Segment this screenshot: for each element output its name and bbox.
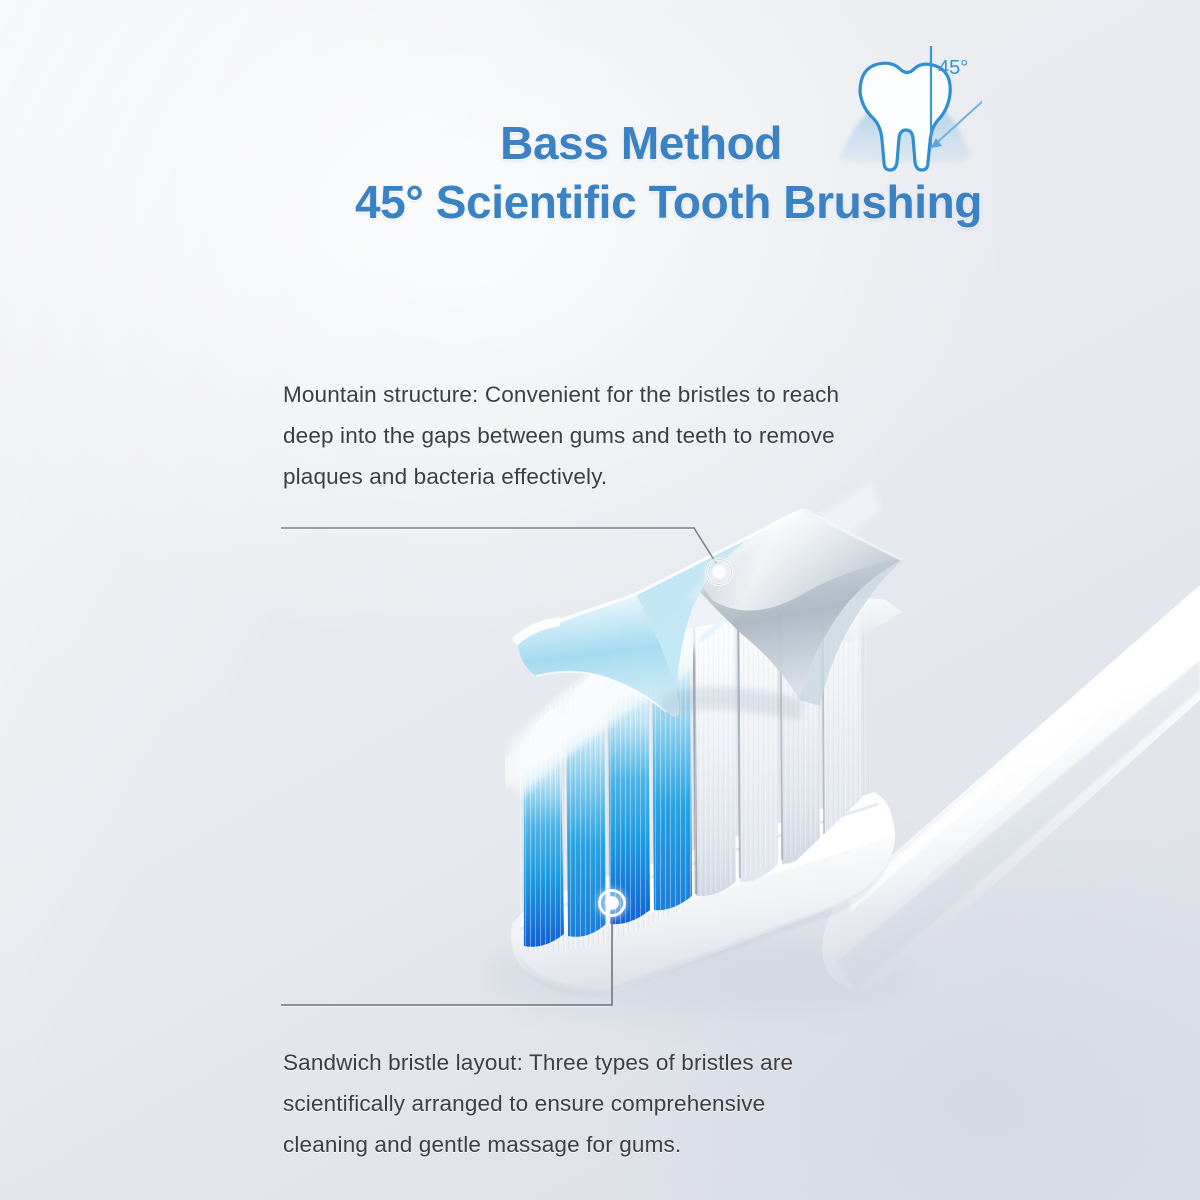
feature-text-bottom: Sandwich bristle layout: Three types of …: [283, 1042, 983, 1165]
toothbrush-handle: [822, 585, 1200, 991]
feature-bottom-line-2: scientifically arranged to ensure compre…: [283, 1083, 983, 1124]
feature-bottom-line-3: cleaning and gentle massage for gums.: [283, 1124, 983, 1165]
feature-top-line-1: Mountain structure: Convenient for the b…: [283, 374, 983, 415]
feature-bottom-line-1: Sandwich bristle layout: Three types of …: [283, 1042, 983, 1083]
infographic-page: 45° Bass Method 45° Scientific Tooth Bru…: [0, 0, 1200, 1200]
feature-text-top: Mountain structure: Convenient for the b…: [283, 374, 983, 497]
feature-top-line-2: deep into the gaps between gums and teet…: [283, 415, 983, 456]
feature-top-line-3: plaques and bacteria effectively.: [283, 456, 983, 497]
angle-label: 45°: [938, 57, 968, 79]
tooth-badge: 45°: [832, 36, 982, 186]
tooth-icon: 45°: [832, 36, 982, 186]
